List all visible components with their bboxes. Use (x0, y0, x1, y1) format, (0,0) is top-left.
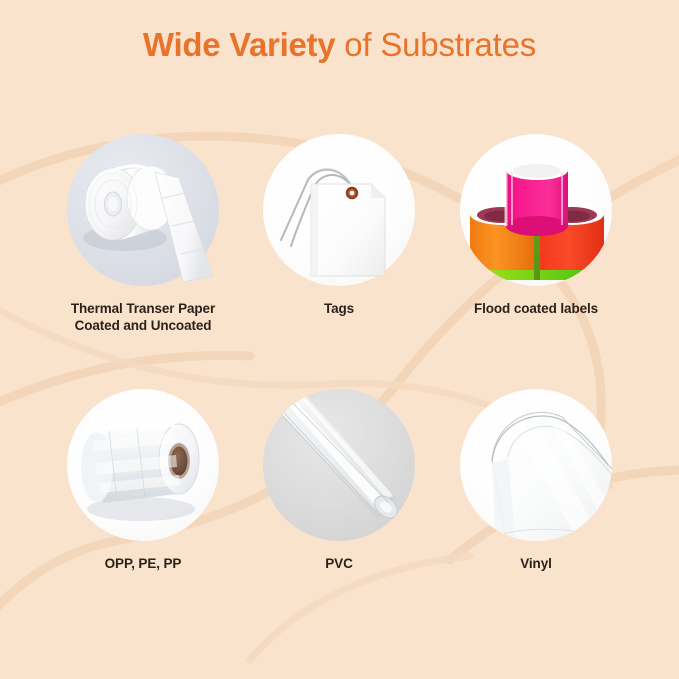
caption-flood-coated-labels: Flood coated labels (423, 300, 649, 317)
substrate-item-flood-coated-labels: Flood coated labels (423, 130, 649, 317)
substrate-item-opp-pe-pp: OPP, PE, PP (30, 385, 256, 572)
label-roll-icon (63, 130, 223, 290)
media-flood-coated-labels (456, 130, 616, 290)
caption-line-1: Thermal Transer Paper (71, 301, 215, 316)
caption-line-1: Flood coated labels (474, 301, 598, 316)
page-title-strong: Wide Variety (143, 26, 335, 63)
caption-thermal-transfer-paper: Thermal Transer Paper Coated and Uncoate… (30, 300, 256, 335)
page-title-light: of Substrates (335, 26, 536, 63)
page-title: Wide Variety of Substrates (0, 26, 679, 64)
caption-line-1: PVC (325, 556, 352, 571)
caption-pvc: PVC (226, 555, 452, 572)
substrate-item-thermal-transfer-paper: Thermal Transer Paper Coated and Uncoate… (30, 130, 256, 335)
caption-line-1: OPP, PE, PP (105, 556, 182, 571)
caption-vinyl: Vinyl (423, 555, 649, 572)
caption-line-1: Tags (324, 301, 354, 316)
colored-label-rolls-icon (456, 130, 616, 290)
clear-vinyl-sheet-icon (456, 385, 616, 545)
caption-tags: Tags (226, 300, 452, 317)
media-thermal-transfer-paper (63, 130, 223, 290)
substrate-grid: Thermal Transer Paper Coated and Uncoate… (0, 130, 679, 650)
substrate-item-pvc: PVC (226, 385, 452, 572)
substrate-item-vinyl: Vinyl (423, 385, 649, 572)
plastic-film-roll-icon (63, 385, 223, 545)
clear-pvc-sheet-icon (259, 385, 419, 545)
caption-opp-pe-pp: OPP, PE, PP (30, 555, 256, 572)
media-pvc (259, 385, 419, 545)
media-opp-pe-pp (63, 385, 223, 545)
substrates-infographic: Wide Variety of Substrates (0, 0, 679, 679)
media-tags (259, 130, 419, 290)
hang-tag-icon (259, 130, 419, 290)
caption-line-1: Vinyl (520, 556, 552, 571)
caption-line-2: Coated and Uncoated (30, 317, 256, 334)
media-vinyl (456, 385, 616, 545)
substrate-item-tags: Tags (226, 130, 452, 317)
